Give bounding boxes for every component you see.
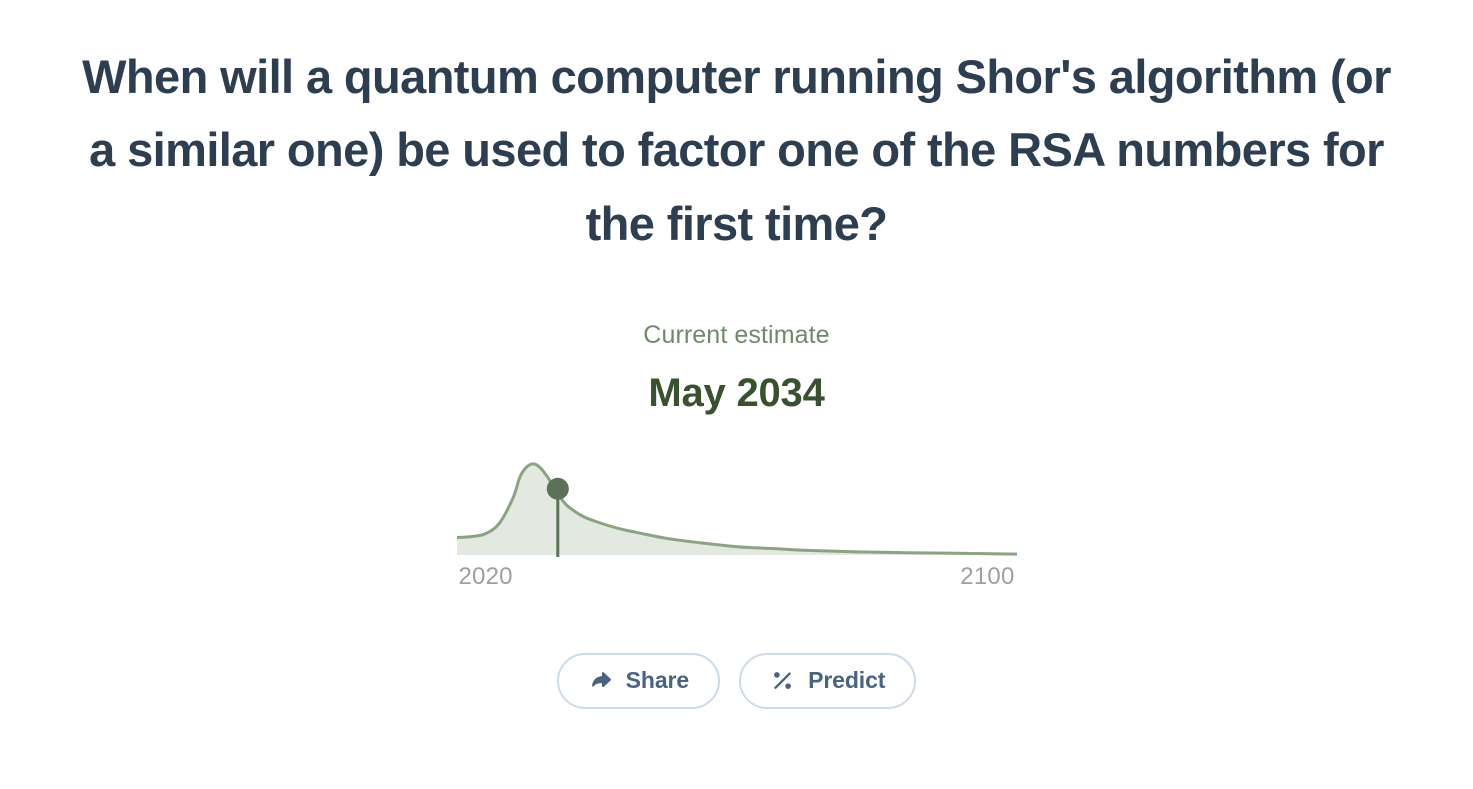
distribution-fill-area [457, 464, 1017, 555]
current-estimate-label: Current estimate [643, 323, 829, 348]
percent-icon [770, 668, 795, 693]
current-estimate-block: Current estimate May 2034 [643, 323, 829, 413]
chart-x-axis: 2020 2100 [457, 565, 1017, 589]
current-estimate-value: May 2034 [643, 373, 829, 413]
share-arrow-icon [588, 668, 613, 693]
share-button[interactable]: Share [557, 653, 720, 709]
action-buttons: Share Predict [557, 653, 917, 709]
x-axis-tick-start: 2020 [459, 565, 513, 589]
distribution-area-svg [457, 449, 1017, 561]
predict-button[interactable]: Predict [739, 653, 916, 709]
share-button-label: Share [626, 667, 689, 694]
probability-distribution-chart: 2020 2100 [457, 449, 1017, 589]
page-title: When will a quantum computer running Sho… [37, 40, 1437, 260]
estimate-marker-dot [546, 478, 568, 500]
predict-button-label: Predict [808, 667, 885, 694]
x-axis-tick-end: 2100 [960, 565, 1014, 589]
prediction-card: When will a quantum computer running Sho… [0, 0, 1473, 789]
